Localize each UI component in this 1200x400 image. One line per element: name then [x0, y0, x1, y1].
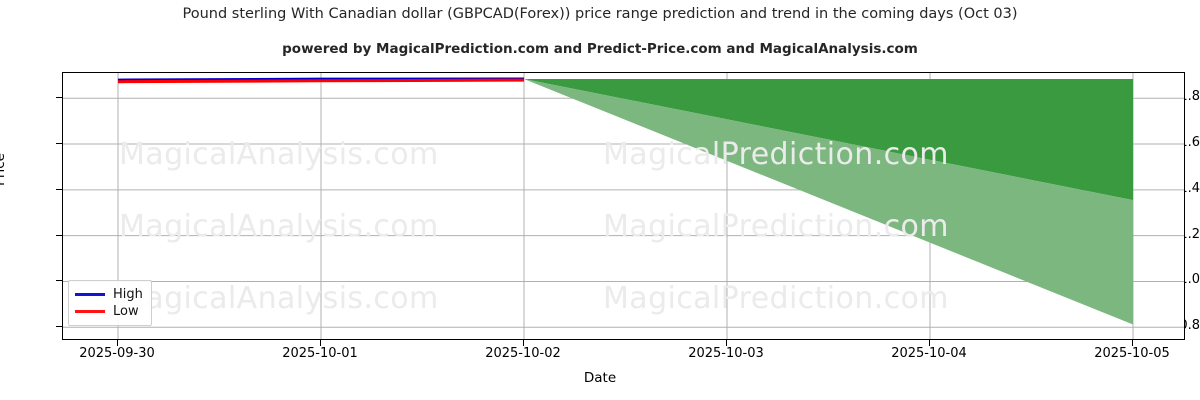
legend-swatch-high — [75, 293, 105, 296]
x-axis-title: Date — [0, 370, 1200, 386]
x-tick-mark — [117, 340, 118, 346]
legend-item-high: High — [75, 286, 143, 303]
legend-swatch-low — [75, 310, 105, 313]
chart-legend[interactable]: High Low — [68, 280, 152, 326]
x-tick-mark — [726, 340, 727, 346]
x-tick-label: 2025-10-04 — [864, 346, 994, 361]
chart-subtitle: powered by MagicalPrediction.com and Pre… — [0, 41, 1200, 57]
plot-canvas — [63, 73, 1185, 340]
legend-item-low: Low — [75, 303, 143, 320]
x-tick-label: 2025-10-02 — [458, 346, 588, 361]
prediction-bands — [524, 79, 1133, 325]
legend-label-high: High — [113, 288, 143, 301]
legend-label-low: Low — [113, 305, 139, 318]
chart-figure: Pound sterling With Canadian dollar (GBP… — [0, 0, 1200, 400]
plot-area: MagicalAnalysis.com MagicalPrediction.co… — [62, 72, 1185, 340]
x-tick-label: 2025-09-30 — [52, 346, 182, 361]
x-tick-mark — [523, 340, 524, 346]
chart-title: Pound sterling With Canadian dollar (GBP… — [0, 6, 1200, 22]
x-tick-mark — [1132, 340, 1133, 346]
y-axis-title: Price — [0, 153, 8, 186]
x-tick-label: 2025-10-05 — [1067, 346, 1197, 361]
series-lines — [118, 79, 524, 82]
x-tick-mark — [320, 340, 321, 346]
x-tick-label: 2025-10-03 — [661, 346, 791, 361]
x-tick-mark — [929, 340, 930, 346]
x-tick-label: 2025-10-01 — [255, 346, 385, 361]
